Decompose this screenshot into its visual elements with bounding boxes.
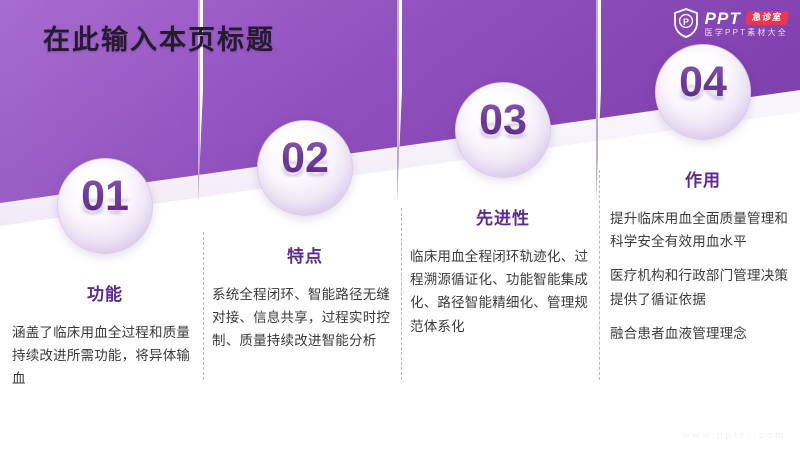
slide-canvas: 在此输入本页标题 P PPT 急诊室 医学PPT素材大全 01 01 功能 (0, 0, 800, 450)
column-body-3: 临床用血全程闭环轨迹化、过程溯源循证化、功能智能集成化、路径智能精细化、管理规范… (410, 245, 596, 338)
content-column-1[interactable]: 01 01 功能 涵盖了临床用血全过程和质量持续改进所需功能，将异体输血 (12, 158, 198, 391)
column-separator-3 (599, 170, 600, 380)
step-number-reflection-1: 01 (58, 195, 152, 217)
column-heading-4: 作用 (610, 166, 796, 191)
content-column-2[interactable]: 02 02 特点 系统全程闭环、智能路径无缝对接、信息共享，过程实时控制、质量持… (212, 120, 398, 353)
column-paragraph: 医疗机构和行政部门管理决策提供了循证依据 (610, 264, 796, 310)
step-number-badge-4: 04 04 (655, 44, 751, 140)
content-column-4[interactable]: 04 04 作用 提升临床用血全面质量管理和科学安全有效用血水平 医疗机构和行政… (610, 44, 796, 345)
column-separator-1 (203, 232, 204, 380)
column-heading-1: 功能 (12, 280, 198, 305)
logo-subtitle: 医学PPT素材大全 (705, 29, 788, 37)
column-paragraph: 临床用血全程闭环轨迹化、过程溯源循证化、功能智能集成化、路径智能精细化、管理规范… (410, 245, 596, 338)
shield-p-icon: P (673, 8, 699, 38)
step-number-reflection-4: 04 (656, 81, 750, 103)
column-paragraph: 提升临床用血全面质量管理和科学安全有效用血水平 (610, 207, 796, 253)
svg-text:P: P (683, 17, 689, 27)
column-heading-2: 特点 (212, 242, 398, 267)
step-number-badge-1: 01 01 (57, 158, 153, 254)
brand-logo[interactable]: P PPT 急诊室 医学PPT素材大全 (673, 8, 788, 38)
column-body-1: 涵盖了临床用血全过程和质量持续改进所需功能，将异体输血 (12, 321, 198, 391)
step-number-badge-3: 03 03 (455, 82, 551, 178)
content-column-3[interactable]: 03 03 先进性 临床用血全程闭环轨迹化、过程溯源循证化、功能智能集成化、路径… (410, 82, 596, 338)
site-watermark: www.ppter.com (683, 430, 786, 441)
column-separator-2 (401, 208, 402, 380)
column-body-2: 系统全程闭环、智能路径无缝对接、信息共享，过程实时控制、质量持续改进智能分析 (212, 283, 398, 353)
column-paragraph: 系统全程闭环、智能路径无缝对接、信息共享，过程实时控制、质量持续改进智能分析 (212, 283, 398, 353)
column-body-4: 提升临床用血全面质量管理和科学安全有效用血水平 医疗机构和行政部门管理决策提供了… (610, 207, 796, 345)
column-heading-3: 先进性 (410, 204, 596, 229)
step-number-badge-2: 02 02 (257, 120, 353, 216)
column-paragraph: 融合患者血液管理理念 (610, 322, 796, 345)
logo-tag-badge: 急诊室 (745, 11, 789, 25)
step-number-reflection-3: 03 (456, 119, 550, 141)
column-paragraph: 涵盖了临床用血全过程和质量持续改进所需功能，将异体输血 (12, 321, 198, 391)
step-number-reflection-2: 02 (258, 157, 352, 179)
logo-brand-text: PPT (705, 10, 741, 27)
page-title: 在此输入本页标题 (43, 18, 275, 57)
